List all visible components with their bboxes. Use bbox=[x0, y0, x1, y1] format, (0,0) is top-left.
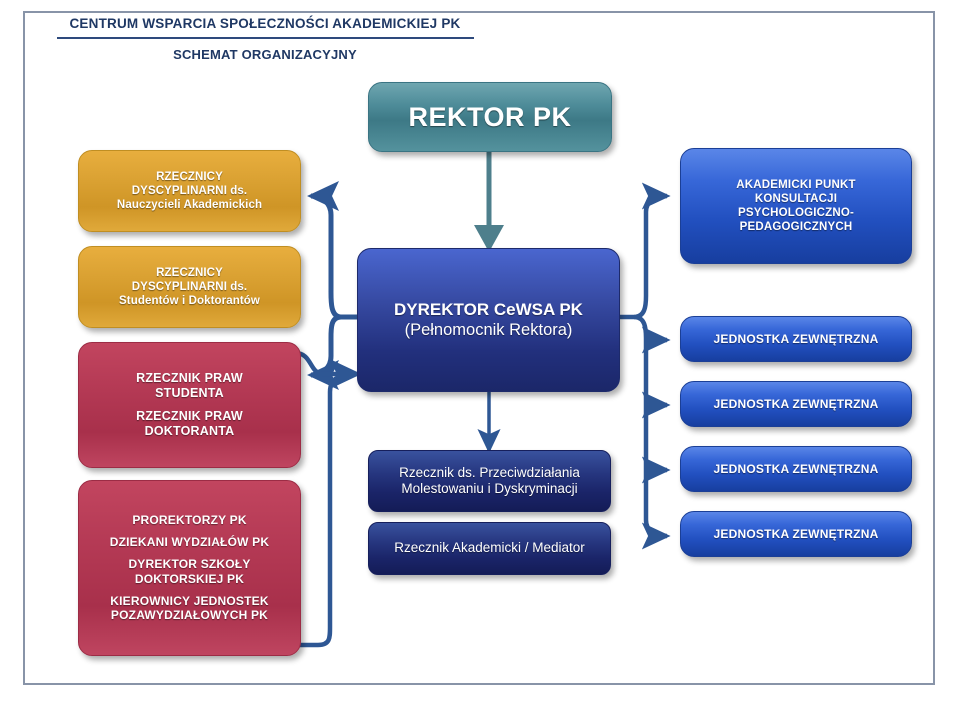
punkt-line1: AKADEMICKI PUNKT bbox=[689, 178, 903, 192]
jednostka-4-label: JEDNOSTKA ZEWNĘTRZNA bbox=[689, 527, 903, 542]
prorektorzy-line4: DOKTORSKIEJ PK bbox=[87, 572, 292, 587]
node-rzecznik-akademicki-mediator[interactable]: Rzecznik Akademicki / Mediator bbox=[368, 522, 611, 575]
node-jednostka-zewnetrzna-3[interactable]: JEDNOSTKA ZEWNĘTRZNA bbox=[680, 446, 912, 492]
rzecznik-praw-line2: STUDENTA bbox=[87, 386, 292, 401]
molestowanie-line2: Molestowaniu i Dyskryminacji bbox=[377, 481, 602, 497]
punkt-line3: PSYCHOLOGICZNO- bbox=[689, 206, 903, 220]
prorektorzy-line6: POZAWYDZIAŁOWYCH PK bbox=[87, 608, 292, 623]
prorektorzy-spacer-1 bbox=[87, 528, 292, 535]
prorektorzy-line2: DZIEKANI WYDZIAŁÓW PK bbox=[87, 535, 292, 550]
node-rektor-pk-line1: REKTOR PK bbox=[377, 101, 603, 134]
prorektorzy-line1: PROREKTORZY PK bbox=[87, 513, 292, 528]
prorektorzy-line5: KIEROWNICY JEDNOSTEK bbox=[87, 594, 292, 609]
jednostka-3-label: JEDNOSTKA ZEWNĘTRZNA bbox=[689, 462, 903, 477]
rzecznicy-studenci-line2: DYSCYPLINARNI ds. bbox=[87, 280, 292, 294]
rzecznik-praw-spacer bbox=[87, 401, 292, 409]
prorektorzy-spacer-3 bbox=[87, 586, 292, 593]
rzecznicy-nauczyciele-line1: RZECZNICY bbox=[87, 170, 292, 184]
node-jednostka-zewnetrzna-2[interactable]: JEDNOSTKA ZEWNĘTRZNA bbox=[680, 381, 912, 427]
rzecznik-praw-line3: RZECZNIK PRAW bbox=[87, 409, 292, 424]
org-chart-canvas: CENTRUM WSPARCIA SPOŁECZNOŚCI AKADEMICKI… bbox=[0, 0, 971, 703]
page-title: CENTRUM WSPARCIA SPOŁECZNOŚCI AKADEMICKI… bbox=[55, 16, 475, 31]
node-jednostka-zewnetrzna-4[interactable]: JEDNOSTKA ZEWNĘTRZNA bbox=[680, 511, 912, 557]
node-rektor-pk[interactable]: REKTOR PK bbox=[368, 82, 612, 152]
mediator-label: Rzecznik Akademicki / Mediator bbox=[377, 540, 602, 556]
node-rzecznicy-dyscyplinarni-nauczycieli[interactable]: RZECZNICY DYSCYPLINARNI ds. Nauczycieli … bbox=[78, 150, 301, 232]
rzecznik-praw-line1: RZECZNIK PRAW bbox=[87, 371, 292, 386]
node-dyrektor-cewsa[interactable]: DYREKTOR CeWSA PK (Pełnomocnik Rektora) bbox=[357, 248, 620, 392]
prorektorzy-line3: DYREKTOR SZKOŁY bbox=[87, 557, 292, 572]
rzecznicy-nauczyciele-line3: Nauczycieli Akademickich bbox=[87, 198, 292, 212]
page-subtitle: SCHEMAT ORGANIZACYJNY bbox=[55, 47, 475, 62]
jednostka-1-label: JEDNOSTKA ZEWNĘTRZNA bbox=[689, 332, 903, 347]
rzecznicy-nauczyciele-line2: DYSCYPLINARNI ds. bbox=[87, 184, 292, 198]
node-dyrektor-line1: DYREKTOR CeWSA PK bbox=[366, 300, 611, 321]
jednostka-2-label: JEDNOSTKA ZEWNĘTRZNA bbox=[689, 397, 903, 412]
punkt-line2: KONSULTACJI bbox=[689, 192, 903, 206]
rzecznicy-studenci-line3: Studentów i Doktorantów bbox=[87, 294, 292, 308]
molestowanie-line1: Rzecznik ds. Przeciwdziałania bbox=[377, 465, 602, 481]
prorektorzy-spacer-2 bbox=[87, 550, 292, 557]
node-jednostka-zewnetrzna-1[interactable]: JEDNOSTKA ZEWNĘTRZNA bbox=[680, 316, 912, 362]
title-divider bbox=[57, 37, 474, 39]
rzecznicy-studenci-line1: RZECZNICY bbox=[87, 266, 292, 280]
node-rzecznik-praw[interactable]: RZECZNIK PRAW STUDENTA RZECZNIK PRAW DOK… bbox=[78, 342, 301, 468]
node-rzecznicy-dyscyplinarni-studentow[interactable]: RZECZNICY DYSCYPLINARNI ds. Studentów i … bbox=[78, 246, 301, 328]
node-akademicki-punkt-konsultacji[interactable]: AKADEMICKI PUNKT KONSULTACJI PSYCHOLOGIC… bbox=[680, 148, 912, 264]
punkt-line4: PEDAGOGICZNYCH bbox=[689, 220, 903, 234]
node-prorektorzy-dziekani[interactable]: PROREKTORZY PK DZIEKANI WYDZIAŁÓW PK DYR… bbox=[78, 480, 301, 656]
node-dyrektor-line2: (Pełnomocnik Rektora) bbox=[366, 320, 611, 340]
node-rzecznik-przeciwdzialania[interactable]: Rzecznik ds. Przeciwdziałania Molestowan… bbox=[368, 450, 611, 512]
rzecznik-praw-line4: DOKTORANTA bbox=[87, 424, 292, 439]
